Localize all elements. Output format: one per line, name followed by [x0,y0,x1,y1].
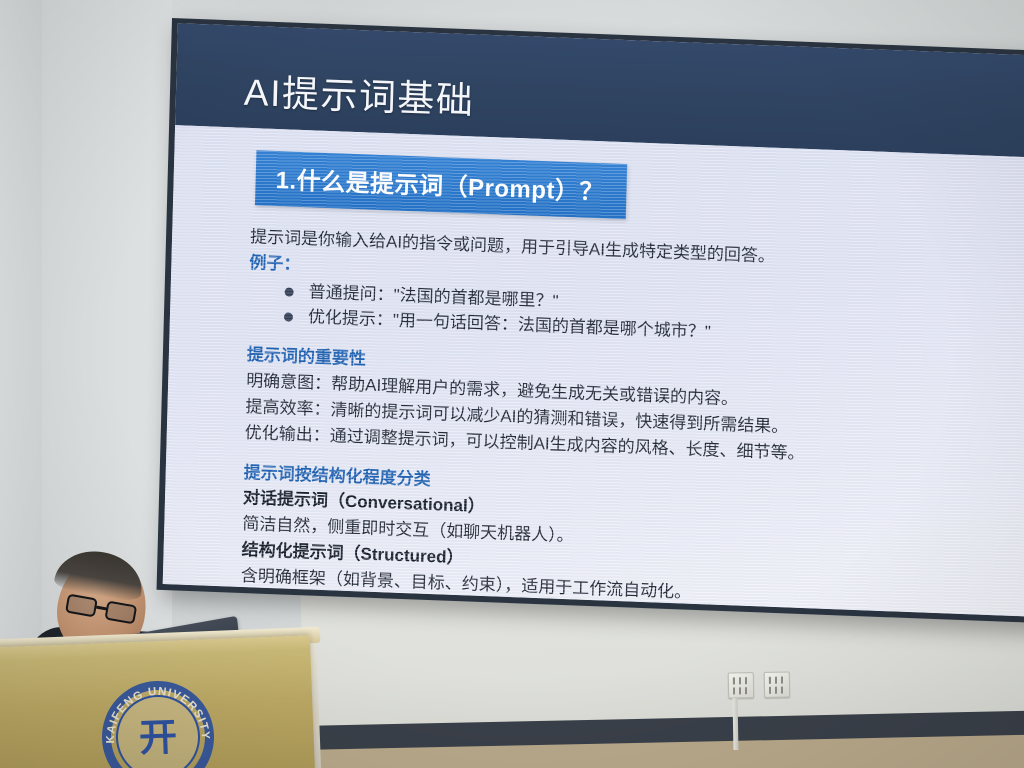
university-logo: KAIFENG UNIVERSITY 开 [100,679,216,768]
power-socket-icon [728,672,754,698]
slide-content: 提示词是你输入给AI的指令或问题，用于引导AI生成特定类型的回答。 例子： 普通… [239,224,1024,617]
cable-conduit [733,698,739,750]
slide-canvas: AI提示词基础 1.什么是提示词（Prompt）？ 提示词是你输入给AI的指令或… [163,23,1024,617]
slide-title: AI提示词基础 [243,62,475,125]
projection-screen: AI提示词基础 1.什么是提示词（Prompt）？ 提示词是你输入给AI的指令或… [157,18,1024,624]
logo-glyph: 开 [138,719,177,758]
lecture-room-scene: AI提示词基础 1.什么是提示词（Prompt）？ 提示词是你输入给AI的指令或… [0,0,1024,768]
section-classification: 提示词按结构化程度分类 对话提示词（Conversational） 简洁自然，侧… [240,460,1024,618]
section-banner: 1.什么是提示词（Prompt）？ [255,150,627,219]
slide-body: 1.什么是提示词（Prompt）？ 提示词是你输入给AI的指令或问题，用于引导A… [163,125,1024,617]
section-importance: 提示词的重要性 明确意图：帮助AI理解用户的需求，避免生成无关或错误的内容。 提… [244,342,1024,476]
power-socket-icon [764,671,790,697]
